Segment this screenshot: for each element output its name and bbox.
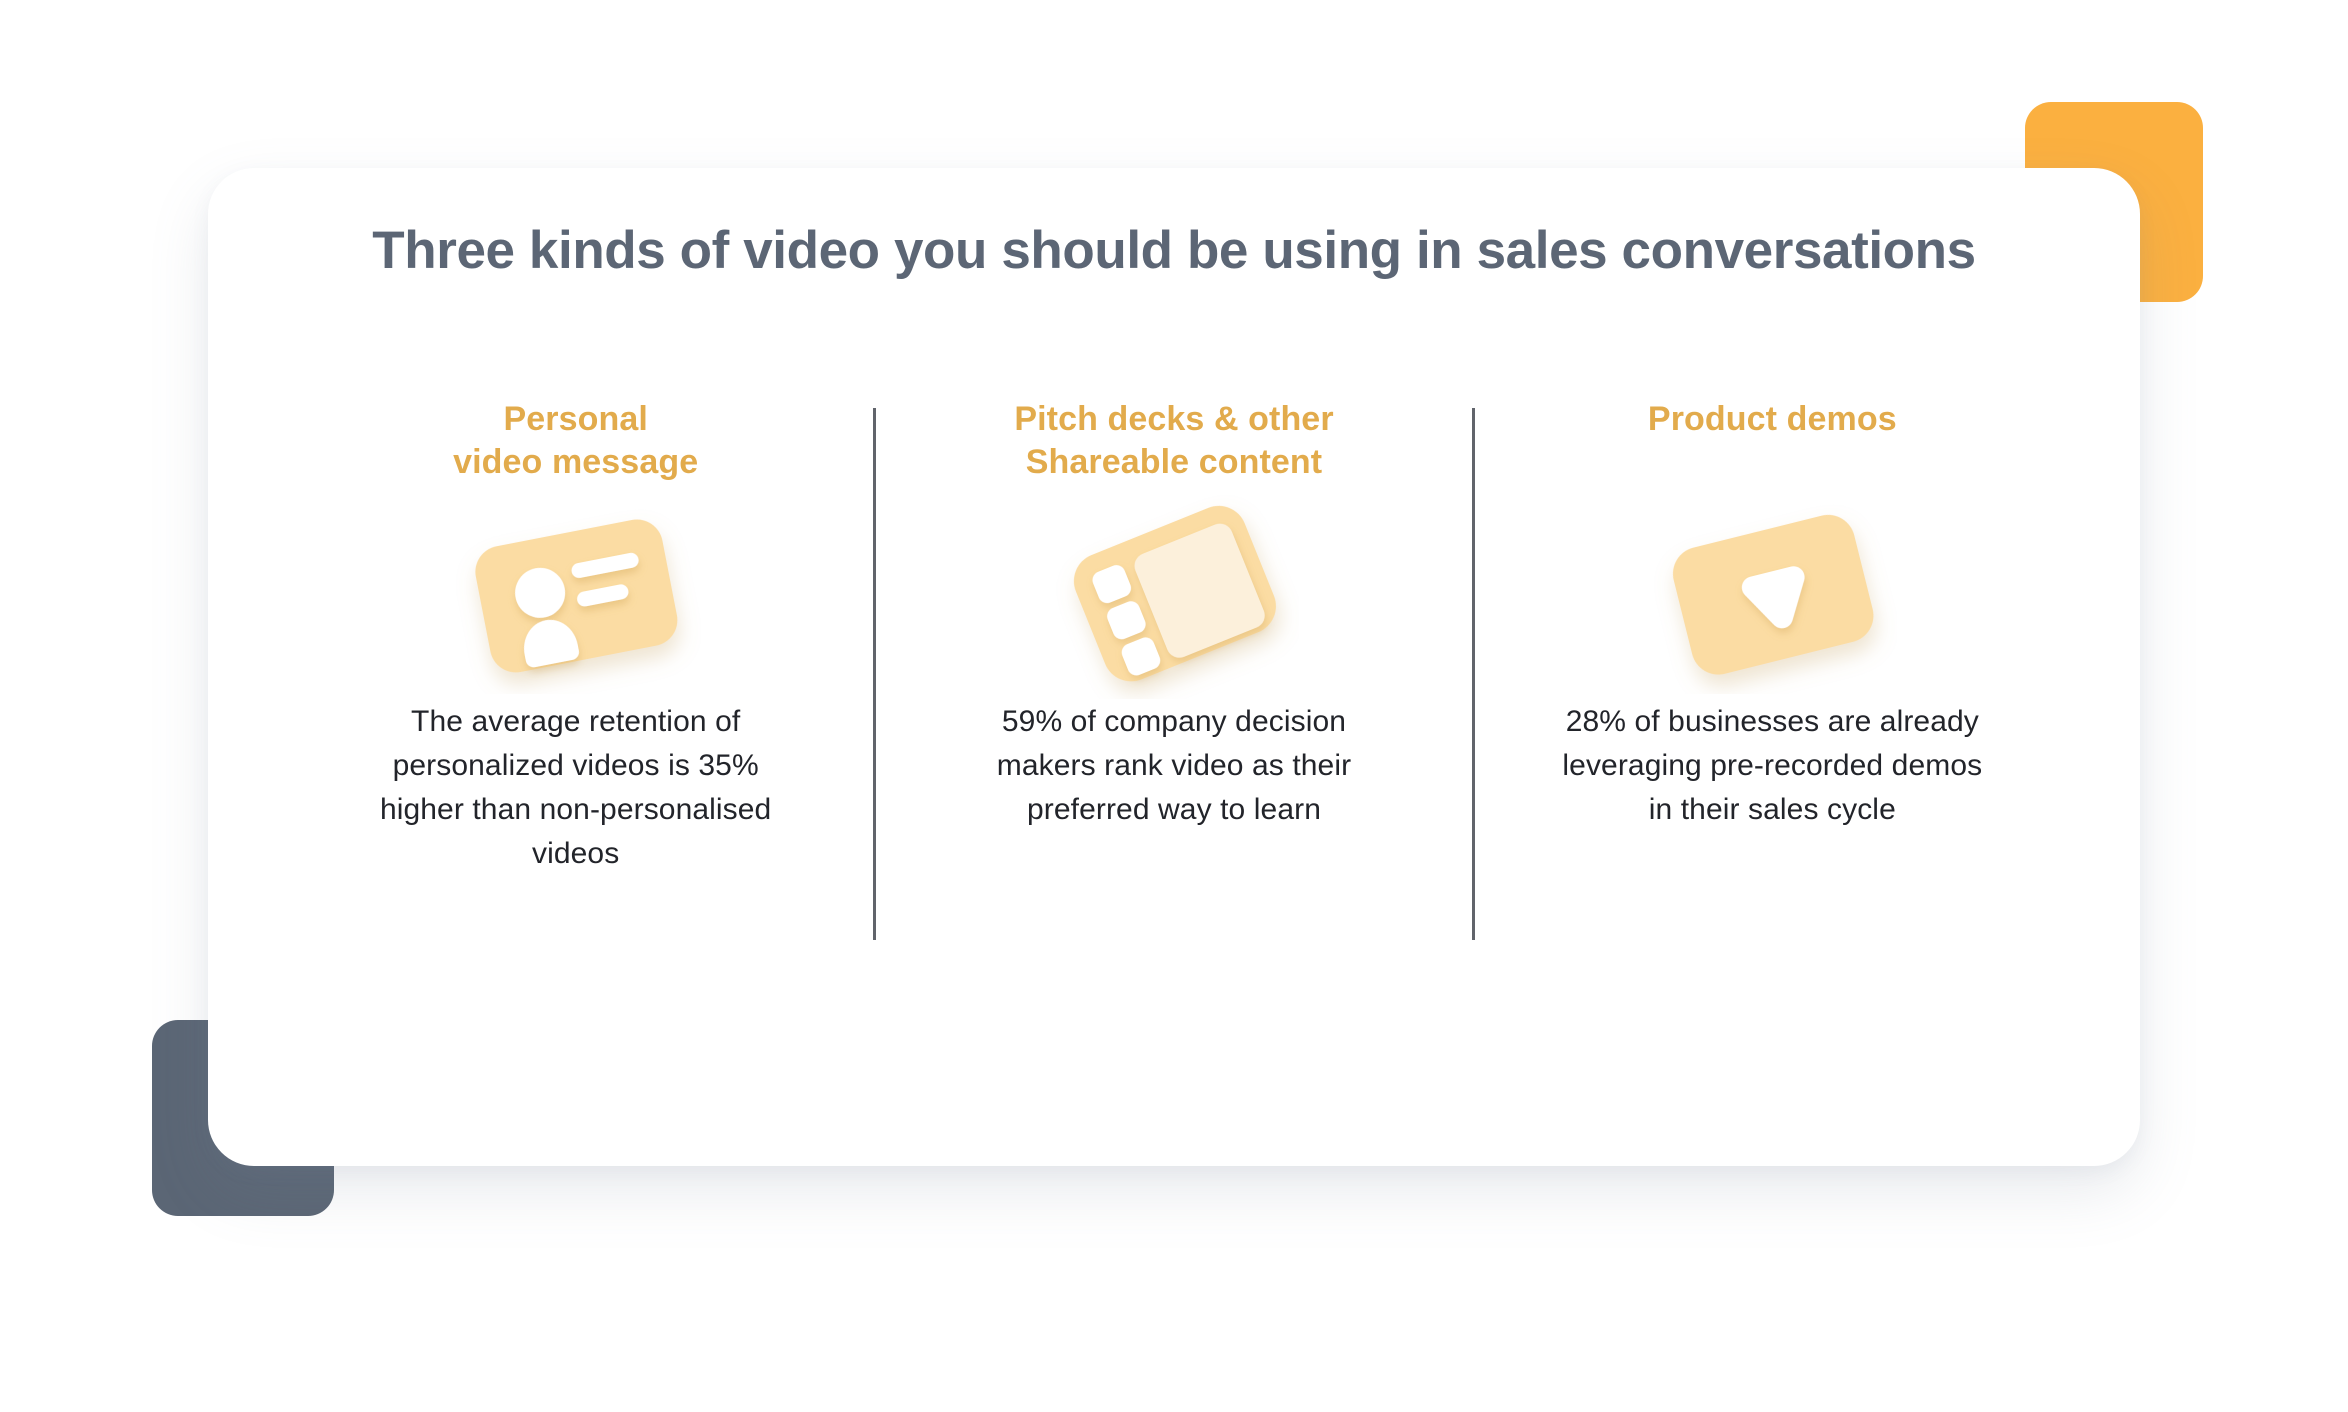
content-card: Three kinds of video you should be using… <box>208 168 2140 1166</box>
column-heading-line1: Personal <box>503 400 647 438</box>
column-product-demos: Product demos <box>1475 398 2070 958</box>
column-heading-line2: video message <box>453 443 698 481</box>
video-play-icon <box>1647 494 1897 694</box>
column-body-text: 28% of businesses are already leveraging… <box>1552 700 1992 832</box>
icon-container <box>278 488 873 700</box>
column-body-text: The average retention of personalized vi… <box>366 700 786 876</box>
column-heading: Pitch decks & other Shareable content <box>1014 398 1333 488</box>
icon-container <box>876 488 1471 700</box>
slide-deck-icon <box>1049 489 1299 699</box>
contact-card-icon <box>451 494 701 694</box>
icon-container <box>1475 488 2070 700</box>
column-body-text: 59% of company decision makers rank vide… <box>964 700 1384 832</box>
column-heading-line2: Shareable content <box>1026 443 1322 481</box>
column-personal-video-message: Personal video message <box>278 398 873 958</box>
page-title: Three kinds of video you should be using… <box>208 220 2140 281</box>
slide-canvas: Three kinds of video you should be using… <box>0 0 2348 1412</box>
column-group: Personal video message <box>278 398 2070 958</box>
column-heading-line1: Product demos <box>1648 400 1897 438</box>
column-heading-line1: Pitch decks & other <box>1014 400 1333 438</box>
column-heading: Personal video message <box>453 398 698 488</box>
column-heading: Product demos <box>1648 398 1897 488</box>
column-pitch-decks: Pitch decks & other Shareable content <box>876 398 1471 958</box>
